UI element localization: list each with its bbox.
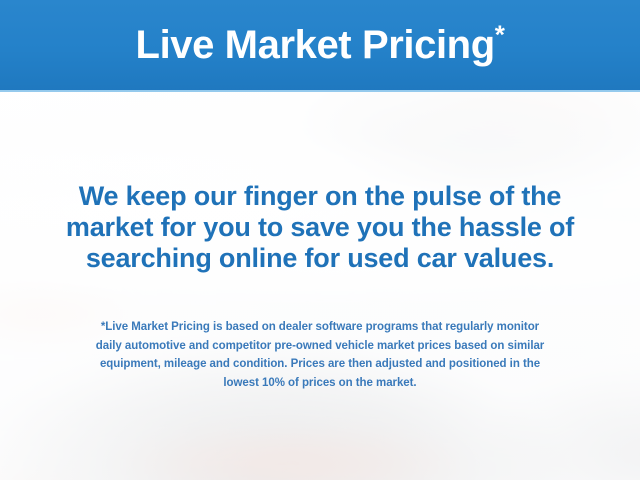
page-title-text: Live Market Pricing [136, 23, 495, 67]
headline-line: market for you to save you the hassle of [0, 212, 640, 243]
headline: We keep our finger on the pulse of the m… [0, 181, 640, 274]
background-photo [0, 92, 640, 480]
disclaimer-line: *Live Market Pricing is based on dealer … [32, 318, 608, 337]
live-market-pricing-banner: Live Market Pricing* We keep our finger … [0, 0, 640, 480]
disclaimer: *Live Market Pricing is based on dealer … [32, 318, 608, 392]
disclaimer-line: equipment, mileage and condition. Prices… [32, 355, 608, 374]
disclaimer-line: daily automotive and competitor pre-owne… [32, 337, 608, 356]
page-title-asterisk: * [495, 20, 505, 50]
disclaimer-line: lowest 10% of prices on the market. [32, 374, 608, 393]
headline-line: searching online for used car values. [0, 243, 640, 274]
page-title: Live Market Pricing* [136, 25, 505, 67]
header-band: Live Market Pricing* [0, 0, 640, 92]
headline-line: We keep our finger on the pulse of the [0, 181, 640, 212]
background-white-overlay [0, 92, 640, 480]
